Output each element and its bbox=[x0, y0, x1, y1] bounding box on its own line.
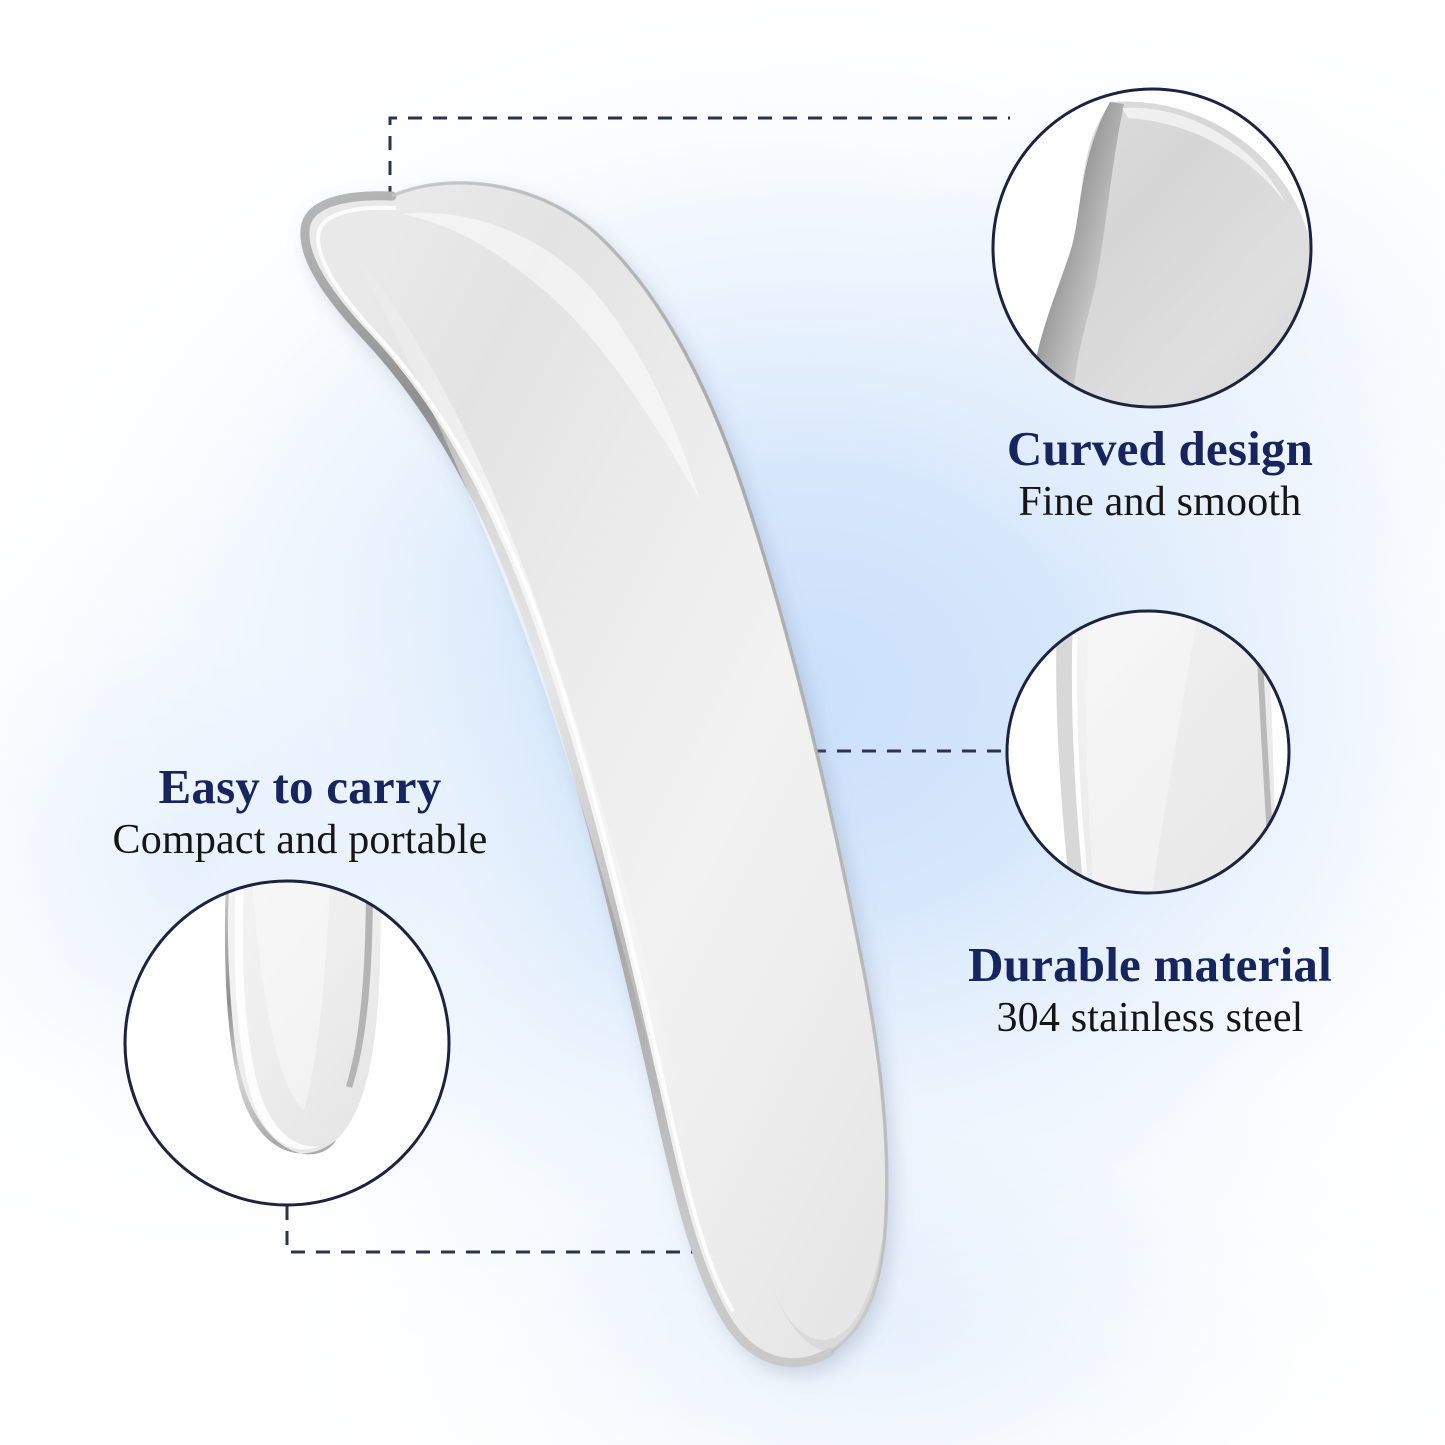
callout-circle-easy-to-carry bbox=[0, 0, 1445, 1445]
callout-subtitle-easy-to-carry: Compact and portable bbox=[0, 819, 600, 862]
callout-title-curved-design: Curved design bbox=[860, 424, 1445, 474]
infographic-canvas: Curved design Fine and smooth Durable ma… bbox=[0, 0, 1445, 1445]
callout-title-easy-to-carry: Easy to carry bbox=[0, 762, 600, 812]
callout-subtitle-curved-design: Fine and smooth bbox=[860, 481, 1445, 524]
callout-text-easy-to-carry: Easy to carry Compact and portable bbox=[0, 762, 600, 862]
callout-title-durable-material: Durable material bbox=[840, 940, 1445, 990]
callout-text-durable-material: Durable material 304 stainless steel bbox=[840, 940, 1445, 1040]
callout-subtitle-durable-material: 304 stainless steel bbox=[840, 997, 1445, 1040]
callout-text-curved-design: Curved design Fine and smooth bbox=[860, 424, 1445, 524]
